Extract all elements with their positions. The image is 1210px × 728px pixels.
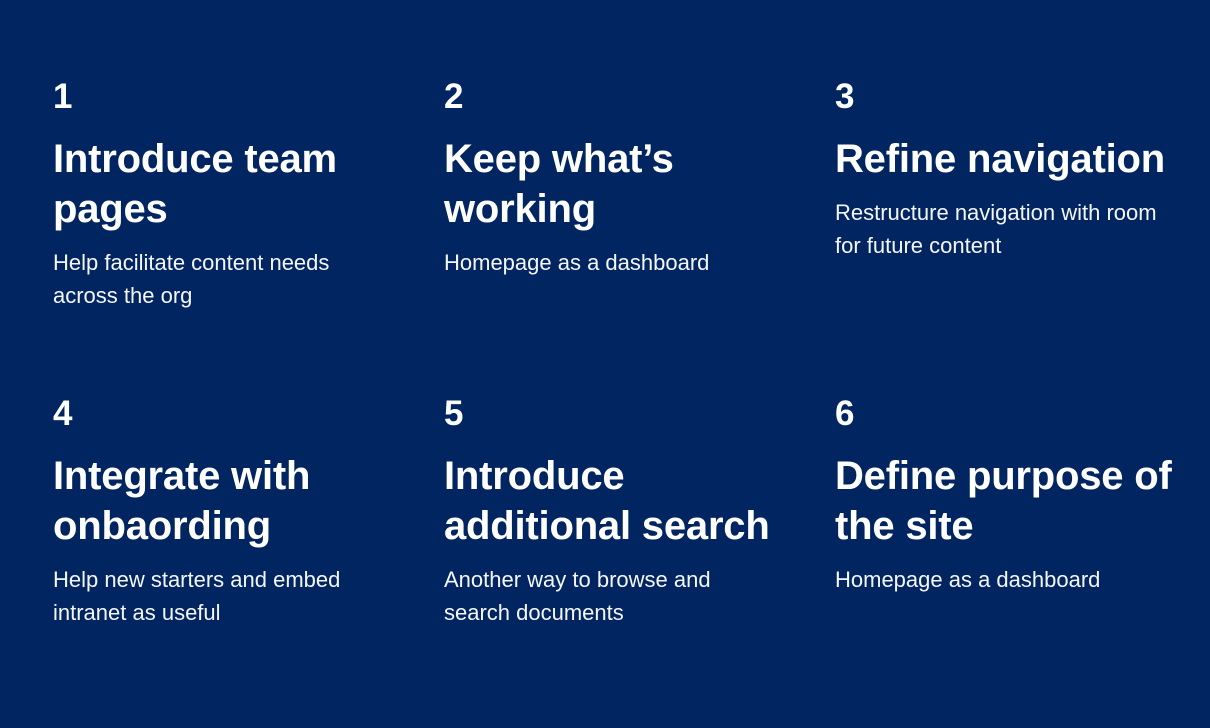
item-number: 3 xyxy=(835,78,1195,116)
item-description: Homepage as a dashboard xyxy=(835,563,1165,596)
recommendation-item-5: 5 Introduce additional search Another wa… xyxy=(444,395,804,629)
item-title: Refine navigation xyxy=(835,134,1180,184)
item-title: Define purpose of the site xyxy=(835,451,1180,551)
slide-canvas: 1 Introduce team pages Help facilitate c… xyxy=(0,0,1210,728)
item-description: Help facilitate content needs across the… xyxy=(53,246,383,312)
item-description: Help new starters and embed intranet as … xyxy=(53,563,383,629)
recommendation-item-4: 4 Integrate with onbaording Help new sta… xyxy=(53,395,413,629)
recommendation-item-6: 6 Define purpose of the site Homepage as… xyxy=(835,395,1195,629)
item-description: Homepage as a dashboard xyxy=(444,246,774,279)
item-number: 1 xyxy=(53,78,413,116)
item-description: Another way to browse and search documen… xyxy=(444,563,774,629)
item-title: Introduce additional search xyxy=(444,451,789,551)
recommendation-item-2: 2 Keep what’s working Homepage as a dash… xyxy=(444,78,804,395)
item-number: 2 xyxy=(444,78,804,116)
item-description: Restructure navigation with room for fut… xyxy=(835,196,1165,262)
item-title: Integrate with onbaording xyxy=(53,451,398,551)
recommendation-item-1: 1 Introduce team pages Help facilitate c… xyxy=(53,78,413,395)
recommendation-item-3: 3 Refine navigation Restructure navigati… xyxy=(835,78,1195,395)
item-number: 6 xyxy=(835,395,1195,433)
recommendations-grid: 1 Introduce team pages Help facilitate c… xyxy=(0,78,1210,629)
item-title: Keep what’s working xyxy=(444,134,789,234)
item-title: Introduce team pages xyxy=(53,134,398,234)
item-number: 4 xyxy=(53,395,413,433)
item-number: 5 xyxy=(444,395,804,433)
